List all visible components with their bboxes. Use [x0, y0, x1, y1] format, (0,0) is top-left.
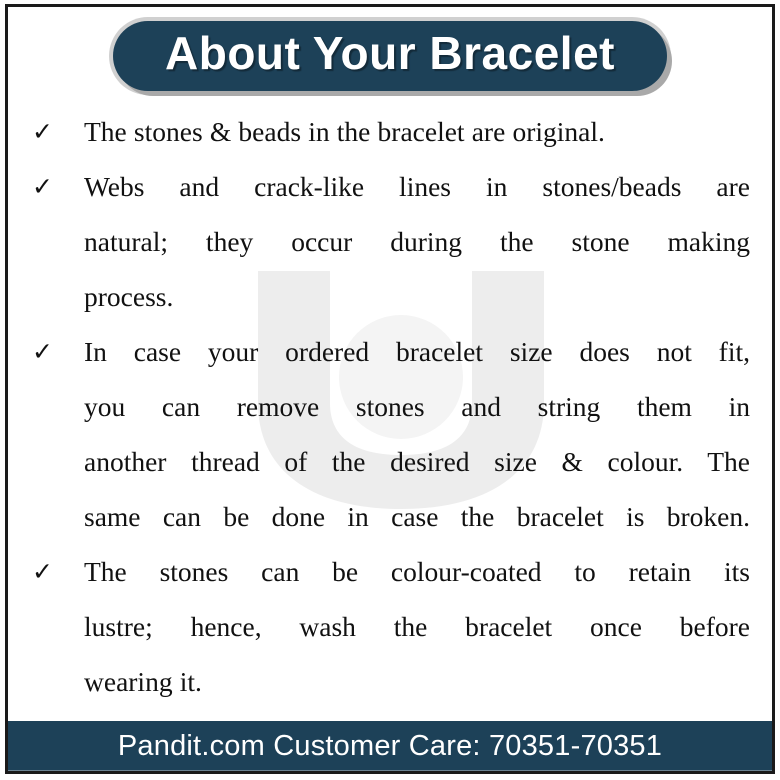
list-item: ✓ The stones & beads in the bracelet are…	[8, 104, 772, 159]
list-item-text: Webs and crack-like lines in stones/bead…	[84, 159, 750, 214]
checkmark-icon: ✓	[32, 104, 60, 159]
checkmark-icon: ✓	[32, 159, 60, 214]
checkmark-icon: ✓	[32, 324, 60, 379]
list-item-text: The stones & beads in the bracelet are o…	[84, 104, 750, 159]
customer-care-footer: Pandit.com Customer Care: 70351-70351	[8, 721, 772, 771]
about-your-bracelet-card: About Your Bracelet ✓ The stones & beads…	[0, 0, 780, 780]
list-item-text: lustre; hence, wash the bracelet once be…	[84, 599, 750, 654]
card-frame: About Your Bracelet ✓ The stones & beads…	[5, 4, 775, 774]
list-item-text: same can be done in case the bracelet is…	[84, 489, 750, 544]
checkmark-icon: ✓	[32, 544, 60, 599]
list-item: ✓ In case your ordered bracelet size doe…	[8, 324, 772, 544]
page-title: About Your Bracelet	[113, 21, 667, 91]
list-item-text: another thread of the desired size & col…	[84, 434, 750, 489]
list-item-text: process.	[84, 269, 750, 324]
list-item-text: The stones can be colour-coated to retai…	[84, 544, 750, 599]
header: About Your Bracelet	[8, 21, 772, 91]
list-item-text: In case your ordered bracelet size does …	[84, 324, 750, 379]
list-item-text: wearing it.	[84, 654, 750, 709]
list-item-text: natural; they occur during the stone mak…	[84, 214, 750, 269]
bullet-list: ✓ The stones & beads in the bracelet are…	[8, 104, 772, 709]
list-item: ✓ Webs and crack-like lines in stones/be…	[8, 159, 772, 324]
list-item-text: you can remove stones and string them in	[84, 379, 750, 434]
list-item: ✓ The stones can be colour-coated to ret…	[8, 544, 772, 709]
